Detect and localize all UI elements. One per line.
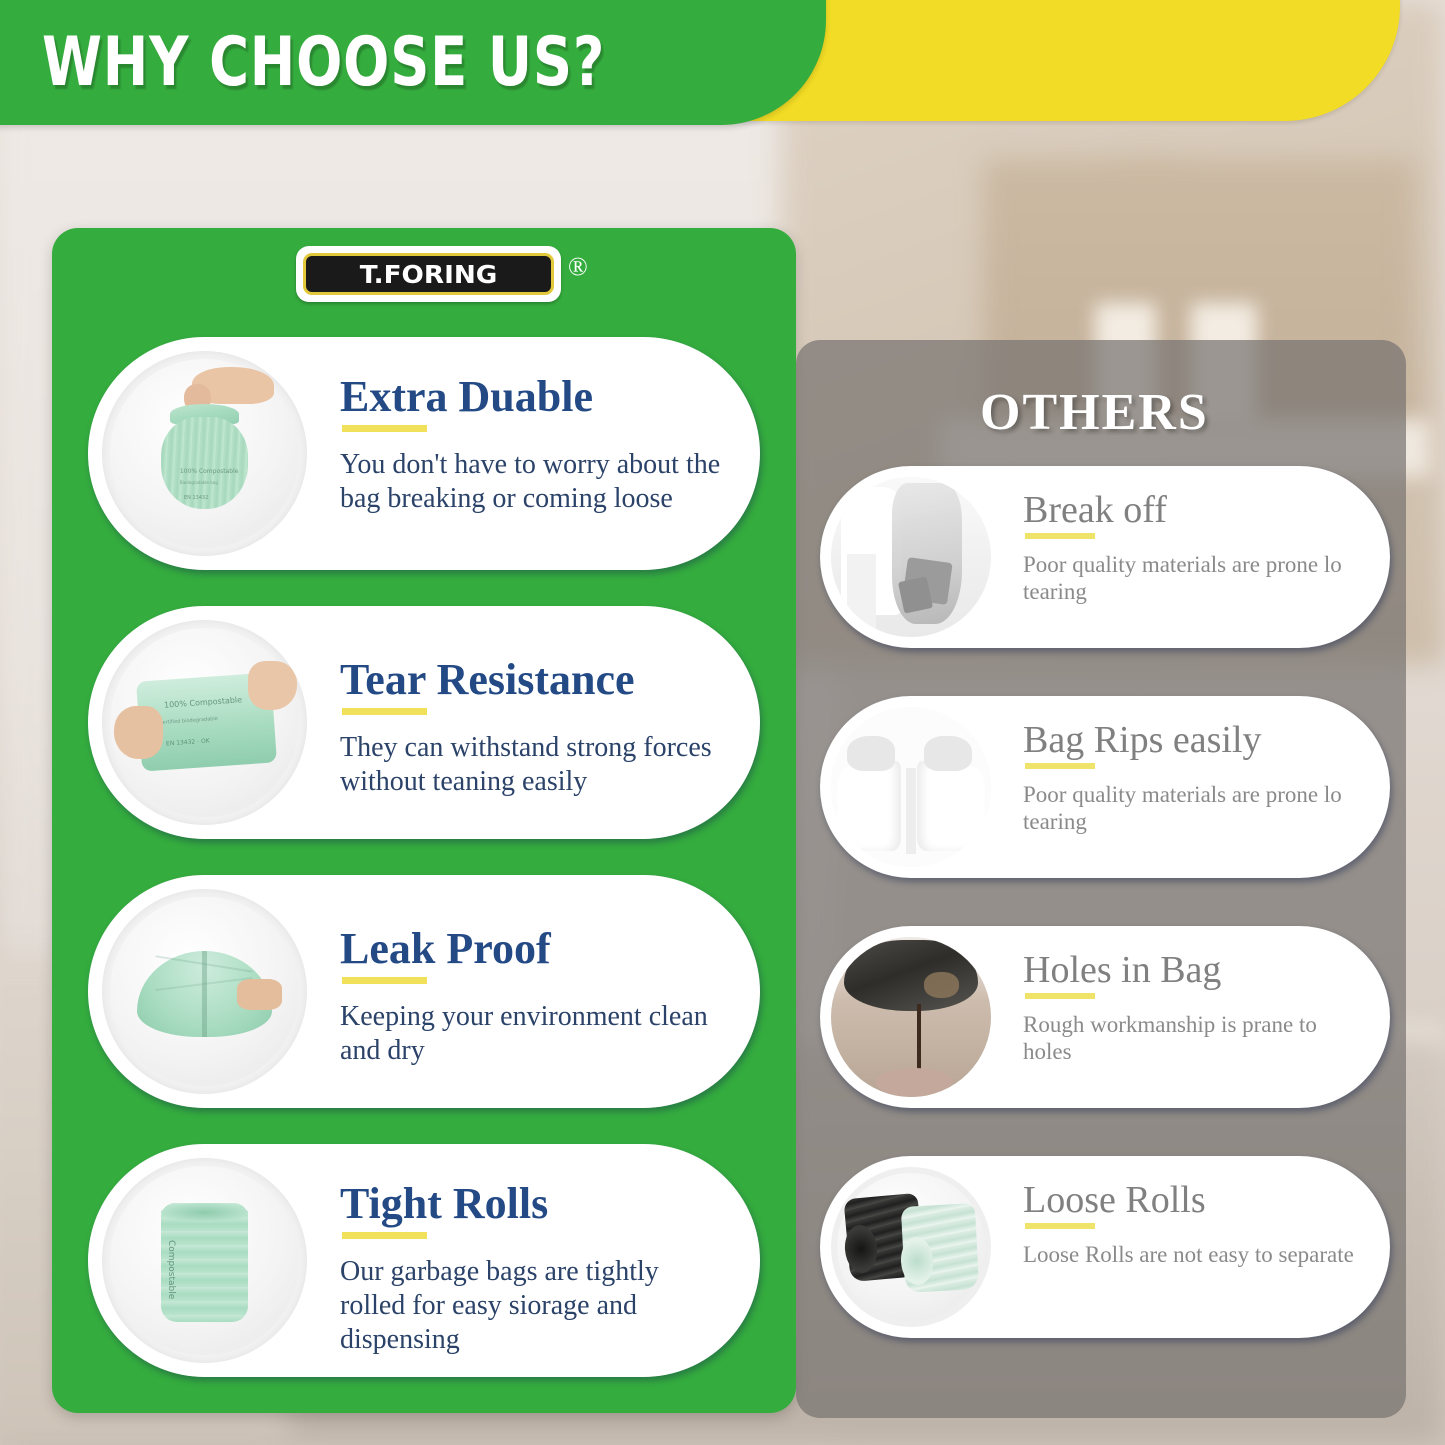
others-underline (1025, 763, 1095, 769)
feature-description: Our garbage bags are tightly rolled for … (340, 1255, 726, 1357)
feature-description: You don't have to worry about the bag br… (340, 448, 726, 516)
feature-underline (342, 708, 427, 715)
others-description: Poor quality materials are prone lo tear… (1023, 781, 1368, 836)
others-card[interactable]: Bag Rips easily Poor quality materials a… (820, 696, 1390, 878)
others-thumbnail-black-bag-leaking-liquid (831, 937, 991, 1097)
logo-text: T.FORING (360, 260, 498, 289)
others-description: Poor quality materials are prone lo tear… (1023, 551, 1368, 606)
feature-title: Tear Resistance (340, 658, 726, 703)
others-thumbnail-black-and-green-loose-rolls (831, 1167, 991, 1327)
others-card[interactable]: Holes in Bag Rough workmanship is prane … (820, 926, 1390, 1108)
logo-plate: T.FORING (296, 246, 561, 302)
others-title-item: Bag Rips easily (1023, 721, 1368, 760)
others-card[interactable]: Loose Rolls Loose Rolls are not easy to … (820, 1156, 1390, 1338)
registered-trademark-icon: ® (568, 252, 588, 282)
feature-thumbnail-hands-stretching-green-bag: 100% Compostable Certified biodegradable… (102, 620, 307, 825)
feature-thumbnail-hand-holding-green-bag: 100% Compostable Biodegradable bag EN 13… (102, 351, 307, 556)
feature-card[interactable]: 100% Compostable Certified biodegradable… (88, 606, 760, 839)
others-underline (1025, 1223, 1095, 1229)
feature-title: Tight Rolls (340, 1182, 726, 1227)
feature-thumbnail-green-bag-water-test (102, 889, 307, 1094)
others-card[interactable]: Break off Poor quality materials are pro… (820, 466, 1390, 648)
feature-title: Leak Proof (340, 927, 726, 972)
page-title: WHY CHOOSE US? (42, 23, 605, 102)
others-title-item: Holes in Bag (1023, 951, 1368, 990)
brand-logo: T.FORING ® (296, 246, 596, 308)
feature-underline (342, 1232, 427, 1239)
others-thumbnail-hands-ripping-white-bag (831, 707, 991, 867)
feature-underline (342, 425, 427, 432)
feature-title: Extra Duable (340, 375, 726, 420)
others-title: OTHERS (980, 383, 1209, 442)
feature-card[interactable]: Leak Proof Keeping your environment clea… (88, 875, 760, 1108)
feature-card[interactable]: 100% Compostable Biodegradable bag EN 13… (88, 337, 760, 570)
others-thumbnail-person-holding-clear-trash-bag (831, 477, 991, 637)
feature-description: Keeping your environment clean and dry (340, 1000, 726, 1068)
others-title-item: Loose Rolls (1023, 1181, 1368, 1220)
others-underline (1025, 533, 1095, 539)
others-description: Rough workmanship is prane to holes (1023, 1011, 1368, 1066)
others-description: Loose Rolls are not easy to separate (1023, 1241, 1368, 1269)
feature-card[interactable]: Compostable Tight Rolls Our garbage bags… (88, 1144, 760, 1377)
feature-underline (342, 977, 427, 984)
others-title-item: Break off (1023, 491, 1368, 530)
feature-description: They can withstand strong forces without… (340, 731, 726, 799)
feature-thumbnail-green-bag-roll: Compostable (102, 1158, 307, 1363)
logo-inner-frame: T.FORING (303, 253, 554, 295)
others-underline (1025, 993, 1095, 999)
